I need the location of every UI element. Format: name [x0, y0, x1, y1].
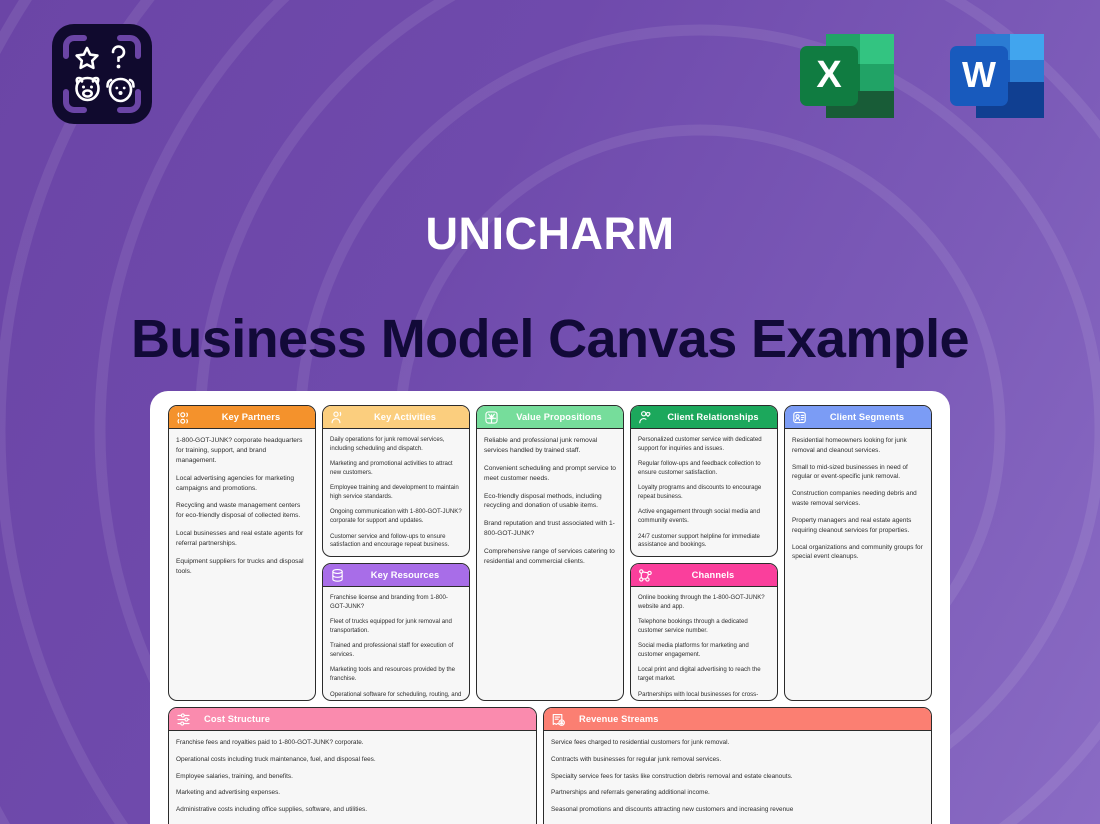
block-item: Regular follow-ups and feedback collecti…	[638, 460, 770, 478]
block-item: Personalized customer service with dedic…	[638, 436, 770, 454]
database-stack-icon	[330, 568, 345, 583]
canvas-block-key-activities[interactable]: Key Activities Daily operations for junk…	[322, 405, 470, 557]
block-item: Reliable and professional junk removal s…	[484, 436, 616, 456]
block-item: Fleet of trucks equipped for junk remova…	[330, 618, 462, 636]
block-item: Franchise license and branding from 1-80…	[330, 594, 462, 612]
block-body: Service fees charged to residential cust…	[544, 731, 931, 824]
word-icon: W	[946, 28, 1048, 124]
block-item: Brand reputation and trust associated wi…	[484, 519, 616, 539]
block-body: Residential homeowners looking for junk …	[785, 429, 931, 700]
svg-text:W: W	[962, 54, 996, 95]
block-item: Trained and professional staff for execu…	[330, 642, 462, 660]
block-item: Employee salaries, training, and benefit…	[176, 772, 529, 781]
block-title: Key Resources	[352, 570, 462, 580]
block-item: Local advertising agencies for marketing…	[176, 474, 308, 494]
block-title: Key Partners	[198, 412, 308, 422]
sliders-icon	[176, 712, 191, 727]
block-header: Key Partners	[169, 406, 315, 429]
block-item: Comprehensive range of services catering…	[484, 547, 616, 567]
receipt-money-icon	[551, 712, 566, 727]
block-title: Cost Structure	[198, 714, 529, 724]
block-item: Online booking through the 1-800-GOT-JUN…	[638, 594, 770, 612]
block-header: Revenue Streams	[544, 708, 931, 731]
canvas-column-cost: Cost Structure Franchise fees and royalt…	[168, 707, 537, 824]
block-header: Client Relationships	[631, 406, 777, 429]
canvas-bottom-grid: Cost Structure Franchise fees and royalt…	[168, 707, 932, 824]
canvas-column-3: Value Propositions Reliable and professi…	[476, 405, 624, 701]
block-item: Marketing tools and resources provided b…	[330, 666, 462, 684]
block-item: Franchise fees and royalties paid to 1-8…	[176, 738, 529, 747]
block-item: Eco-friendly disposal methods, including…	[484, 492, 616, 512]
block-header: Value Propositions	[477, 406, 623, 429]
block-header: Key Resources	[323, 564, 469, 587]
block-item: Marketing and promotional activities to …	[330, 460, 462, 478]
block-title: Channels	[660, 570, 770, 580]
block-item: Contracts with businesses for regular ju…	[551, 755, 924, 764]
canvas-column-1: Key Partners 1-800-GOT-JUNK? corporate h…	[168, 405, 316, 701]
canvas-block-cost-structure[interactable]: Cost Structure Franchise fees and royalt…	[168, 707, 537, 824]
canvas-column-revenue: Revenue Streams Service fees charged to …	[543, 707, 932, 824]
block-body: Reliable and professional junk removal s…	[477, 429, 623, 700]
block-header: Channels	[631, 564, 777, 587]
block-item: Telephone bookings through a dedicated c…	[638, 618, 770, 636]
canvas-block-client-relationships[interactable]: Client Relationships Personalized custom…	[630, 405, 778, 557]
svg-text:X: X	[816, 54, 842, 96]
canvas-block-revenue-streams[interactable]: Revenue Streams Service fees charged to …	[543, 707, 932, 824]
block-item: Customer service and follow-ups to ensur…	[330, 533, 462, 551]
page-title: Business Model Canvas Example	[0, 308, 1100, 370]
block-item: Convenient scheduling and prompt service…	[484, 464, 616, 484]
person-activity-icon	[330, 410, 345, 425]
block-item: Marketing and advertising expenses.	[176, 788, 529, 797]
pet-scan-logo-icon	[50, 22, 154, 126]
block-body: Franchise license and branding from 1-80…	[323, 587, 469, 700]
block-item: Property managers and real estate agents…	[792, 516, 924, 535]
partners-handshake-icon	[176, 410, 191, 425]
canvas-block-key-resources[interactable]: Key Resources Franchise license and bran…	[322, 563, 470, 701]
gift-box-icon	[484, 410, 499, 425]
canvas-block-value-propositions[interactable]: Value Propositions Reliable and professi…	[476, 405, 624, 701]
block-item: 24/7 customer support helpline for immed…	[638, 533, 770, 551]
block-body: Personalized customer service with dedic…	[631, 429, 777, 556]
block-item: Partnerships and referrals generating ad…	[551, 788, 924, 797]
block-item: Employee training and development to mai…	[330, 484, 462, 502]
block-title: Revenue Streams	[573, 714, 924, 724]
canvas-block-client-segments[interactable]: Client Segments Residential homeowners l…	[784, 405, 932, 701]
canvas-column-4: Client Relationships Personalized custom…	[630, 405, 778, 701]
block-header: Key Activities	[323, 406, 469, 429]
block-item: 1-800-GOT-JUNK? corporate headquarters f…	[176, 436, 308, 466]
brand-title: UNICHARM	[0, 208, 1100, 260]
block-item: Partnerships with local businesses for c…	[638, 691, 770, 700]
block-header: Cost Structure	[169, 708, 536, 731]
block-title: Value Propositions	[506, 412, 616, 422]
block-item: Operational costs including truck mainte…	[176, 755, 529, 764]
canvas-top-grid: Key Partners 1-800-GOT-JUNK? corporate h…	[168, 405, 932, 701]
block-item: Local businesses and real estate agents …	[176, 529, 308, 549]
block-item: Local organizations and community groups…	[792, 543, 924, 562]
block-item: Active engagement through social media a…	[638, 508, 770, 526]
block-item: Ongoing communication with 1-800-GOT-JUN…	[330, 508, 462, 526]
block-item: Seasonal promotions and discounts attrac…	[551, 805, 924, 814]
block-body: Daily operations for junk removal servic…	[323, 429, 469, 556]
block-item: Social media platforms for marketing and…	[638, 642, 770, 660]
business-model-canvas: Key Partners 1-800-GOT-JUNK? corporate h…	[150, 391, 950, 824]
block-item: Operational software for scheduling, rou…	[330, 691, 462, 700]
block-item: Service fees charged to residential cust…	[551, 738, 924, 747]
block-header: Client Segments	[785, 406, 931, 429]
block-item: Administrative costs including office su…	[176, 805, 529, 814]
office-app-icons: X W	[796, 28, 1048, 124]
block-title: Client Relationships	[660, 412, 770, 422]
block-item: Specialty service fees for tasks like co…	[551, 772, 924, 781]
canvas-column-5: Client Segments Residential homeowners l…	[784, 405, 932, 701]
block-title: Key Activities	[352, 412, 462, 422]
block-item: Recycling and waste management centers f…	[176, 501, 308, 521]
block-item: Equipment suppliers for trucks and dispo…	[176, 557, 308, 577]
canvas-block-channels[interactable]: Channels Online booking through the 1-80…	[630, 563, 778, 701]
block-body: Online booking through the 1-800-GOT-JUN…	[631, 587, 777, 700]
block-item: Daily operations for junk removal servic…	[330, 436, 462, 454]
network-nodes-icon	[638, 568, 653, 583]
block-title: Client Segments	[814, 412, 924, 422]
person-heart-icon	[638, 410, 653, 425]
block-item: Small to mid-sized businesses in need of…	[792, 463, 924, 482]
block-item: Construction companies needing debris an…	[792, 489, 924, 508]
block-body: 1-800-GOT-JUNK? corporate headquarters f…	[169, 429, 315, 700]
canvas-block-key-partners[interactable]: Key Partners 1-800-GOT-JUNK? corporate h…	[168, 405, 316, 701]
excel-icon: X	[796, 28, 898, 124]
slide-root: X W UNICHARM Business Model Canvas Examp…	[0, 0, 1100, 824]
id-card-icon	[792, 410, 807, 425]
block-body: Franchise fees and royalties paid to 1-8…	[169, 731, 536, 824]
block-item: Residential homeowners looking for junk …	[792, 436, 924, 455]
block-item: Local print and digital advertising to r…	[638, 666, 770, 684]
canvas-column-2: Key Activities Daily operations for junk…	[322, 405, 470, 701]
block-item: Loyalty programs and discounts to encour…	[638, 484, 770, 502]
